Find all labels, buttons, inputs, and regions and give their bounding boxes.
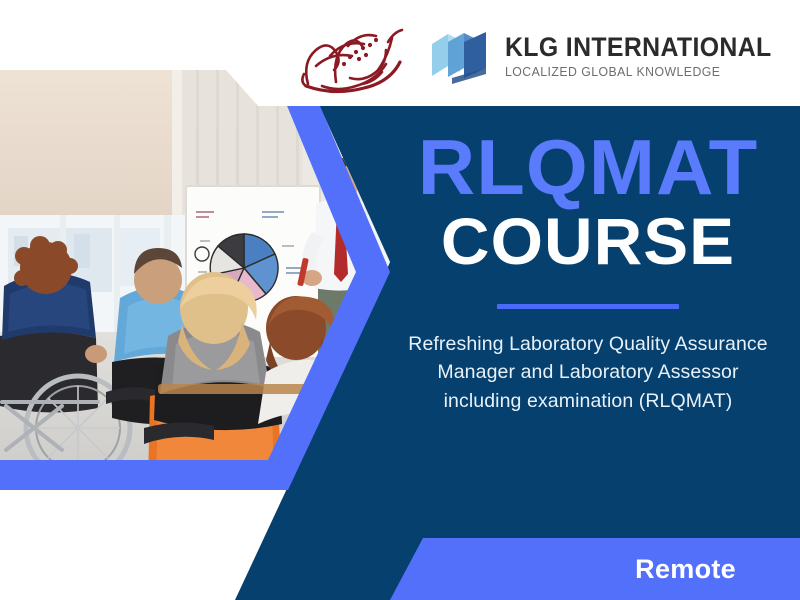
arabic-calligraphy-logo <box>292 12 410 100</box>
course-description: Refreshing Laboratory Quality Assurance … <box>408 330 768 415</box>
title-divider <box>497 304 679 309</box>
klg-book-mark-icon <box>430 28 492 84</box>
klg-subtitle: LOCALIZED GLOBAL KNOWLEDGE <box>505 65 774 78</box>
course-word-title: COURSE <box>404 208 771 274</box>
remote-badge-label: Remote <box>635 554 800 585</box>
course-promo-banner: KLG INTERNATIONAL LOCALIZED GLOBAL KNOWL… <box>0 0 800 600</box>
klg-logo: KLG INTERNATIONAL LOCALIZED GLOBAL KNOWL… <box>430 28 795 84</box>
remote-badge: Remote <box>390 538 800 600</box>
course-text-block: RLQMAT COURSE Refreshing Laboratory Qual… <box>408 130 768 415</box>
course-code-title: RLQMAT <box>404 130 771 204</box>
klg-title: KLG INTERNATIONAL <box>505 34 772 61</box>
